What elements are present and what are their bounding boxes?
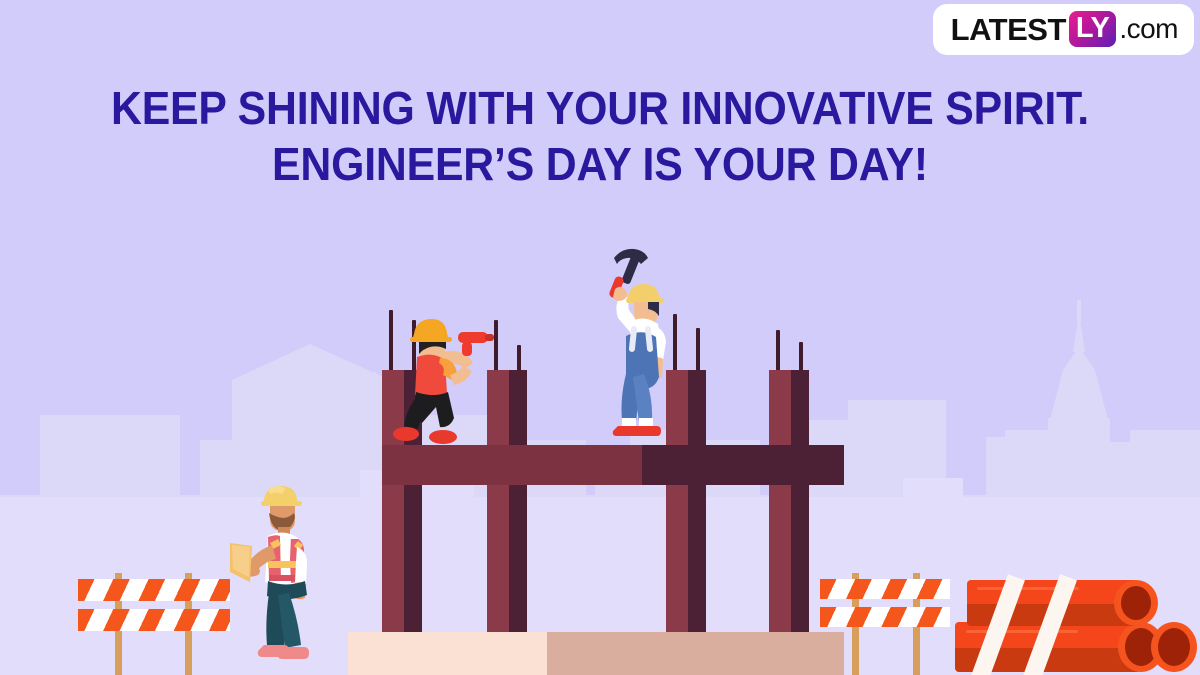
rebar-rod [776, 330, 780, 372]
logo-badge-ly: LY [1069, 11, 1116, 47]
logo-text-latest: LATEST [951, 14, 1066, 45]
rebar-rod [799, 342, 803, 372]
column-side [688, 370, 706, 632]
kneeling-worker-with-drill [392, 312, 502, 452]
barricade-board [820, 579, 950, 599]
barricade-board [820, 607, 950, 627]
horizontal-beam-right [642, 445, 844, 485]
greeting-card-canvas: KEEP SHINING WITH YOUR INNOVATIVE SPIRIT… [0, 0, 1200, 675]
column-side [791, 370, 809, 632]
pipe-highlight [966, 630, 1078, 633]
foreground-supervisor-with-blueprint [228, 483, 324, 675]
barricade-board [78, 609, 230, 631]
barricade-board [78, 579, 230, 601]
page-headline: KEEP SHINING WITH YOUR INNOVATIVE SPIRIT… [42, 80, 1158, 192]
headline-line-1: KEEP SHINING WITH YOUR INNOVATIVE SPIRIT… [42, 80, 1158, 136]
barricade-right [820, 567, 950, 675]
pipe-stack [955, 580, 1185, 675]
column-side [509, 370, 527, 632]
standing-worker-with-hammer [588, 240, 678, 450]
pipe-opening [1121, 586, 1151, 620]
column-face [769, 370, 791, 632]
concrete-column [769, 370, 809, 632]
foundation-slab-right [547, 632, 844, 675]
rebar-rod [517, 345, 521, 373]
rebar-rod [696, 328, 700, 372]
pipe-opening [1158, 628, 1190, 666]
foundation-slab-left [348, 632, 547, 675]
latestly-logo[interactable]: LATEST LY .com [933, 4, 1194, 55]
barricade-left [78, 567, 230, 675]
logo-text-com: .com [1119, 15, 1178, 43]
headline-line-2: ENGINEER’S DAY IS YOUR DAY! [42, 136, 1158, 192]
